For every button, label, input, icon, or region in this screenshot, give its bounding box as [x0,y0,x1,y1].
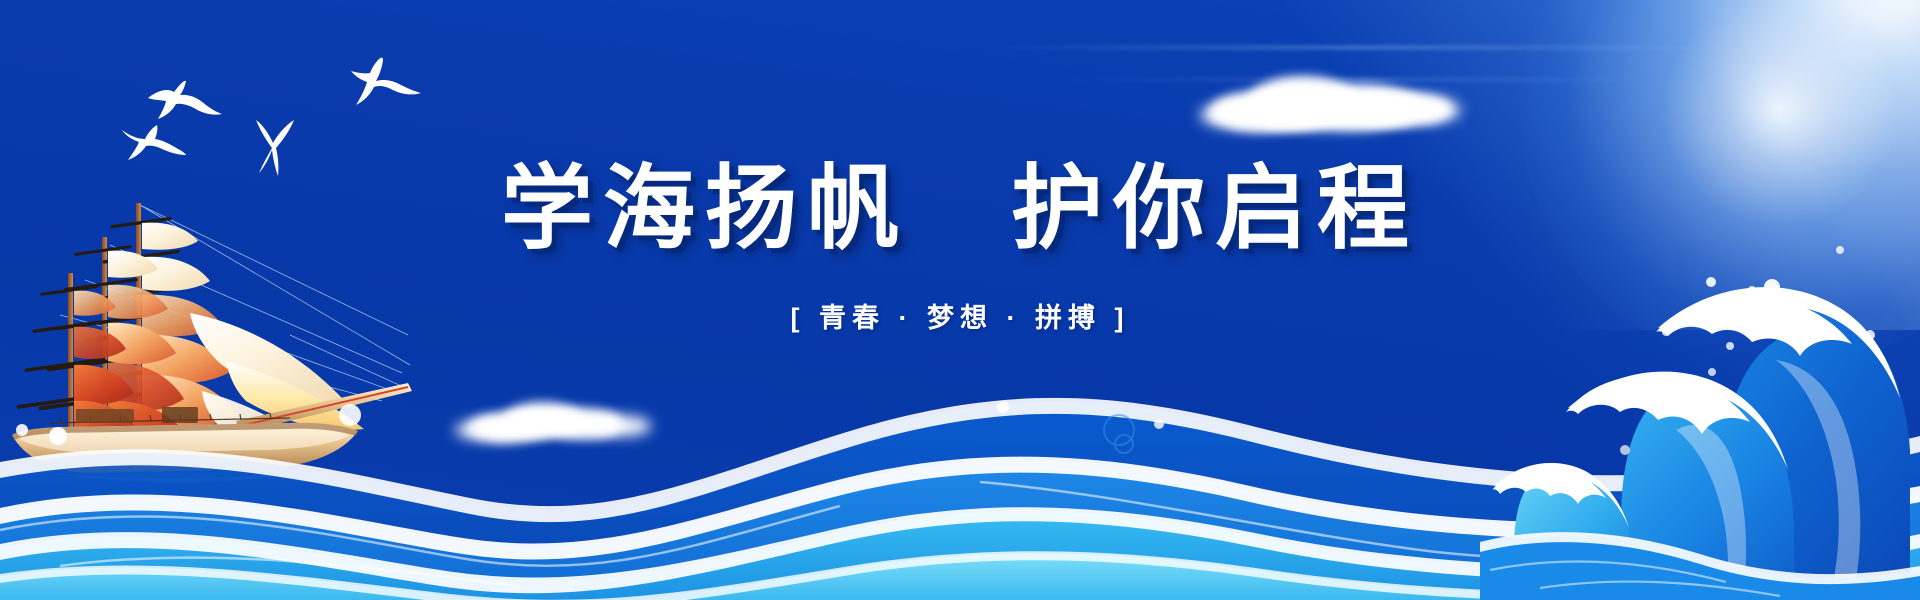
bubble-group [0,0,1920,600]
hero-banner: 学海扬帆 护你启程 [ 青春 · 梦想 · 拼搏 ] [0,0,1920,600]
